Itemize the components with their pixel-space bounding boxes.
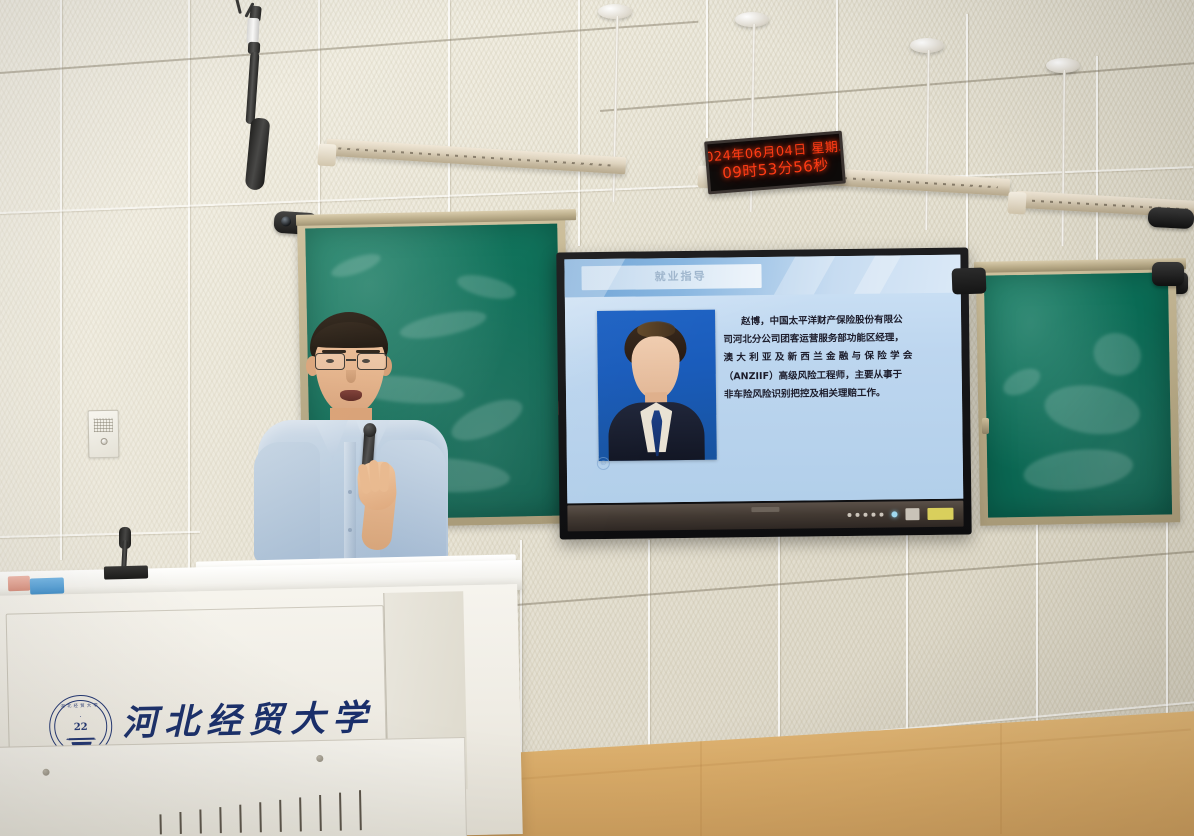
eyeglasses-icon [314,353,388,370]
gooseneck-microphone-base[interactable] [104,565,148,579]
panel-screw [316,755,323,762]
light-fixture-endcap [1007,192,1026,215]
display-screen[interactable]: 就业指导 赵博，中国太平洋财产保险股份有限公 司河北分公司团客运营服务部功能区经… [564,255,963,504]
wall-seam-v [966,14,968,264]
slide-body-text: 赵博，中国太平洋财产保险股份有限公 司河北分公司团客运营服务部功能区经理， 澳 … [723,311,948,405]
slide-body-line-5: 非车险风险识别把控及相关理赔工作。 [724,384,948,405]
shirt-button [348,490,352,494]
display-control-bar[interactable] [567,501,963,532]
wall-intercom-panel[interactable] [88,410,120,459]
display-side-speaker [952,267,987,294]
wall-seam-v [188,0,190,575]
nose [346,370,356,383]
display-button-row[interactable] [847,513,883,517]
chalkboard-slide-lock-right[interactable] [982,418,989,434]
volume-knob[interactable] [100,438,107,445]
wall-seam-v [578,0,580,246]
slide-title: 就业指导 [654,268,706,285]
wall-seam-v [318,0,320,230]
seal-year: 22 [74,722,88,733]
wall-seam-v [706,0,708,138]
display-port-label [905,508,919,520]
speaker-portrait-photo [597,310,717,461]
panel-screw [42,769,49,776]
lecture-hall-scene: 2024年06月04日 星期二 09时53分56秒 [0,0,1194,836]
display-brand-logo [751,507,779,512]
display-warning-label [927,508,953,520]
wall-seam-v [1096,56,1098,268]
finger [379,462,390,492]
smiley-face-icon: ☺ [597,457,610,470]
interactive-display[interactable]: 就业指导 赵博，中国太平洋财产保险股份有限公 司河北分公司团客运营服务部功能区经… [556,247,971,539]
seal-top-text: 河北经贸大学 [50,702,111,709]
microphone-head-icon [363,423,377,438]
podium-front-panel [0,737,467,836]
led-clock-display: 2024年06月04日 星期二 09时53分56秒 [704,131,846,195]
university-name-cn: 河北经贸大学 [122,700,382,741]
shirt-button [348,528,352,532]
power-indicator-icon[interactable] [891,511,897,517]
chalk-eraser-pink[interactable] [8,576,31,592]
ceiling-camera-right [1148,207,1194,229]
speaker-grille-icon [94,418,113,432]
chalkboard-right [976,264,1180,525]
presentation-slide: 就业指导 赵博，中国太平洋财产保险股份有限公 司河北分公司团客运营服务部功能区经… [564,255,963,504]
speaker-person [252,312,452,592]
mouth-open-speaking [340,390,362,401]
light-fixture-endcap [317,143,336,166]
chalkboard-right-surface [984,272,1172,517]
wall-speaker-box [1152,262,1184,286]
chalk-eraser-blue[interactable] [30,577,65,594]
wall-seam-v [1166,490,1168,740]
microphone-body-white [246,18,259,45]
wall-seam-v [60,0,62,560]
arm-left [254,442,320,562]
